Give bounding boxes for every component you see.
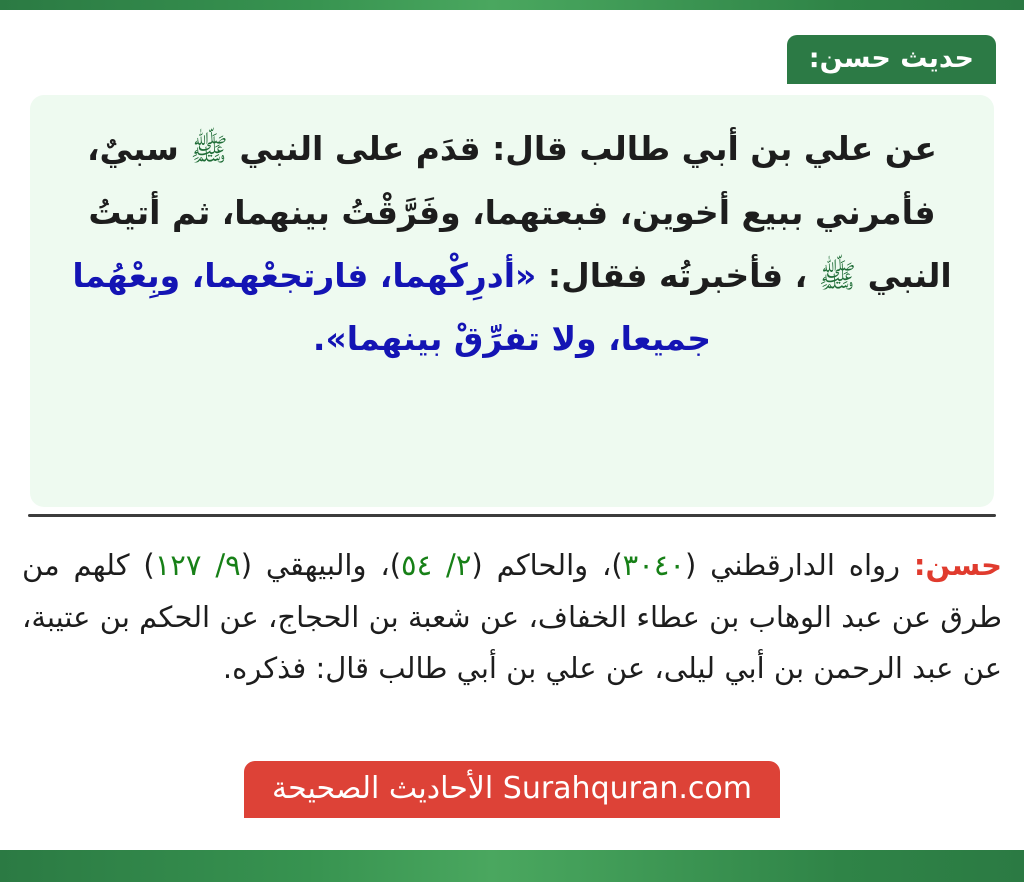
takhrij-segment-1: رواه الدارقطني ( [685,548,914,582]
sallallahu-alayhi-wasallam-icon: ﷺ [190,132,227,168]
top-accent-bar [0,0,1024,10]
grade-badge: حديث حسن: [787,35,996,84]
reference-number-hakim: ٢/ ٥٤ [401,548,471,582]
hadith-line-1: عن علي بن أبي طالب قال: قدَم على النبي [239,129,937,168]
hadith-text-panel: عن علي بن أبي طالب قال: قدَم على النبي ﷺ… [30,95,994,507]
section-divider [28,514,996,517]
takhrij-segment-3: )، والبيهقي ( [241,548,401,582]
hadith-line-3b: ، فأخبرتُه فقال: [548,256,807,295]
hadith-card: حديث حسن: عن علي بن أبي طالب قال: قدَم ع… [0,10,1024,850]
reference-number-bayhaqi: ٩/ ١٢٧ [155,548,241,582]
site-brand-badge[interactable]: Surahquran.com الأحاديث الصحيحة [244,761,780,819]
site-domain-label: Surahquran.com [503,771,752,806]
sallallahu-alayhi-wasallam-icon-2: ﷺ [819,259,856,295]
site-arabic-label: الأحاديث الصحيحة [272,771,493,806]
takhrij-grade-word: حسن: [914,548,1002,582]
hadith-body: عن علي بن أبي طالب قال: قدَم على النبي ﷺ… [64,117,960,371]
takhrij-block: حسن: رواه الدارقطني (٣٠٤٠)، والحاكم (٢/ … [22,540,1002,695]
footer-brand-container: Surahquran.com الأحاديث الصحيحة [0,761,1024,819]
grade-badge-container: حديث حسن: [787,35,996,85]
takhrij-segment-2: )، والحاكم ( [471,548,622,582]
reference-number-darqutni: ٣٠٤٠ [623,548,685,582]
bottom-accent-bar [0,850,1024,882]
